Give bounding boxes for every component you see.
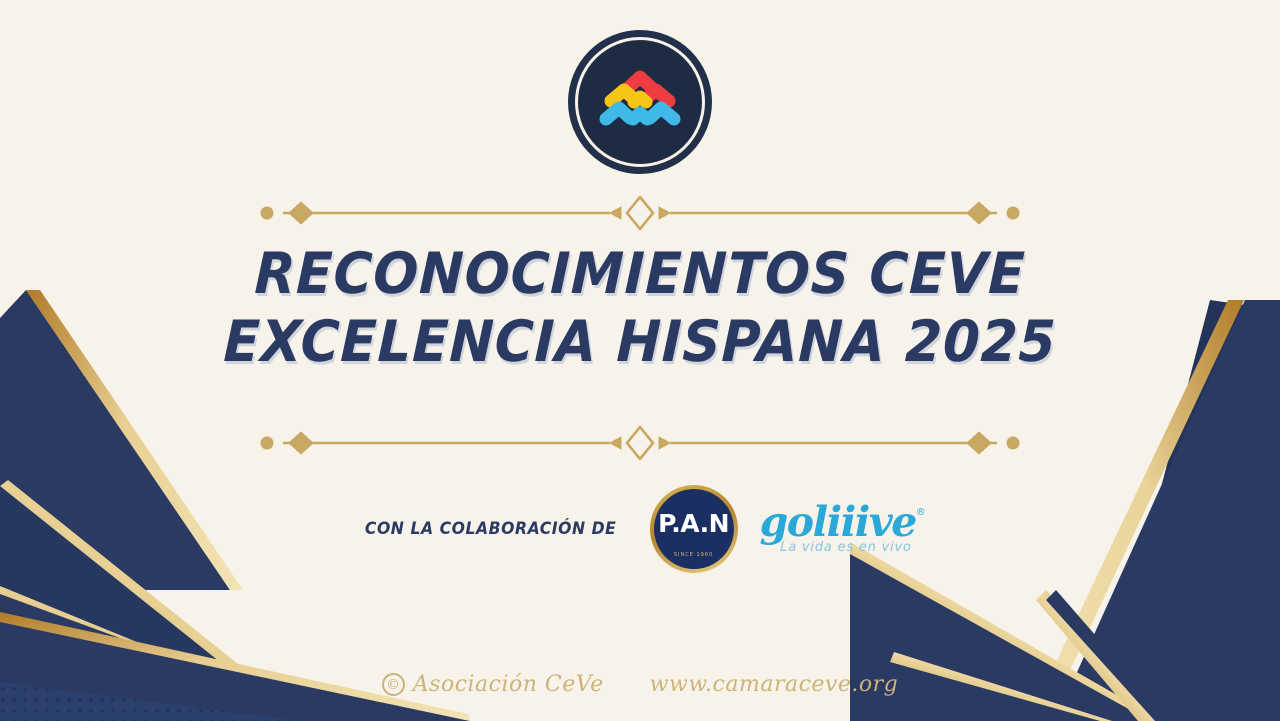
collaboration-label: CON LA COLABORACIÓN DE <box>365 519 616 539</box>
goliiive-brand-text: goliiive <box>760 503 916 542</box>
ornamental-divider-bottom <box>255 426 1025 460</box>
page-title: RECONOCIMIENTOS CEVE EXCELENCIA HISPANA … <box>0 244 1280 373</box>
footer-website-url[interactable]: www.camaraceve.org <box>650 672 899 697</box>
slide-canvas: RECONOCIMIENTOS CEVE EXCELENCIA HISPANA … <box>0 0 1280 721</box>
footer: © Asociación CeVe www.camaraceve.org <box>0 672 1280 697</box>
footer-copyright: © Asociación CeVe <box>382 672 604 697</box>
logo-disc <box>579 41 701 163</box>
goliiive-tagline: La vida es en vivo <box>760 540 916 555</box>
title-line-2: EXCELENCIA HISPANA 2025 <box>44 312 1236 374</box>
copyright-icon: © <box>382 673 405 696</box>
ceve-logo <box>568 30 712 174</box>
footer-website[interactable]: www.camaraceve.org <box>650 672 899 697</box>
title-line-1: RECONOCIMIENTOS CEVE <box>44 244 1236 306</box>
pan-brand-text: P.A.N <box>650 511 738 536</box>
goliiive-logo: goliiive ® La vida es en vivo <box>760 503 926 555</box>
registered-mark-icon: ® <box>916 507 926 518</box>
footer-organization-name: Asociación CeVe <box>413 672 604 697</box>
logo-blocks-icon <box>597 62 683 142</box>
pan-since-text: SINCE 1960 <box>650 552 738 558</box>
pan-logo: P.A.N SINCE 1960 <box>650 485 738 573</box>
ornamental-divider-top <box>255 196 1025 230</box>
collaboration-row: CON LA COLABORACIÓN DE P.A.N SINCE 1960 … <box>0 485 1280 573</box>
